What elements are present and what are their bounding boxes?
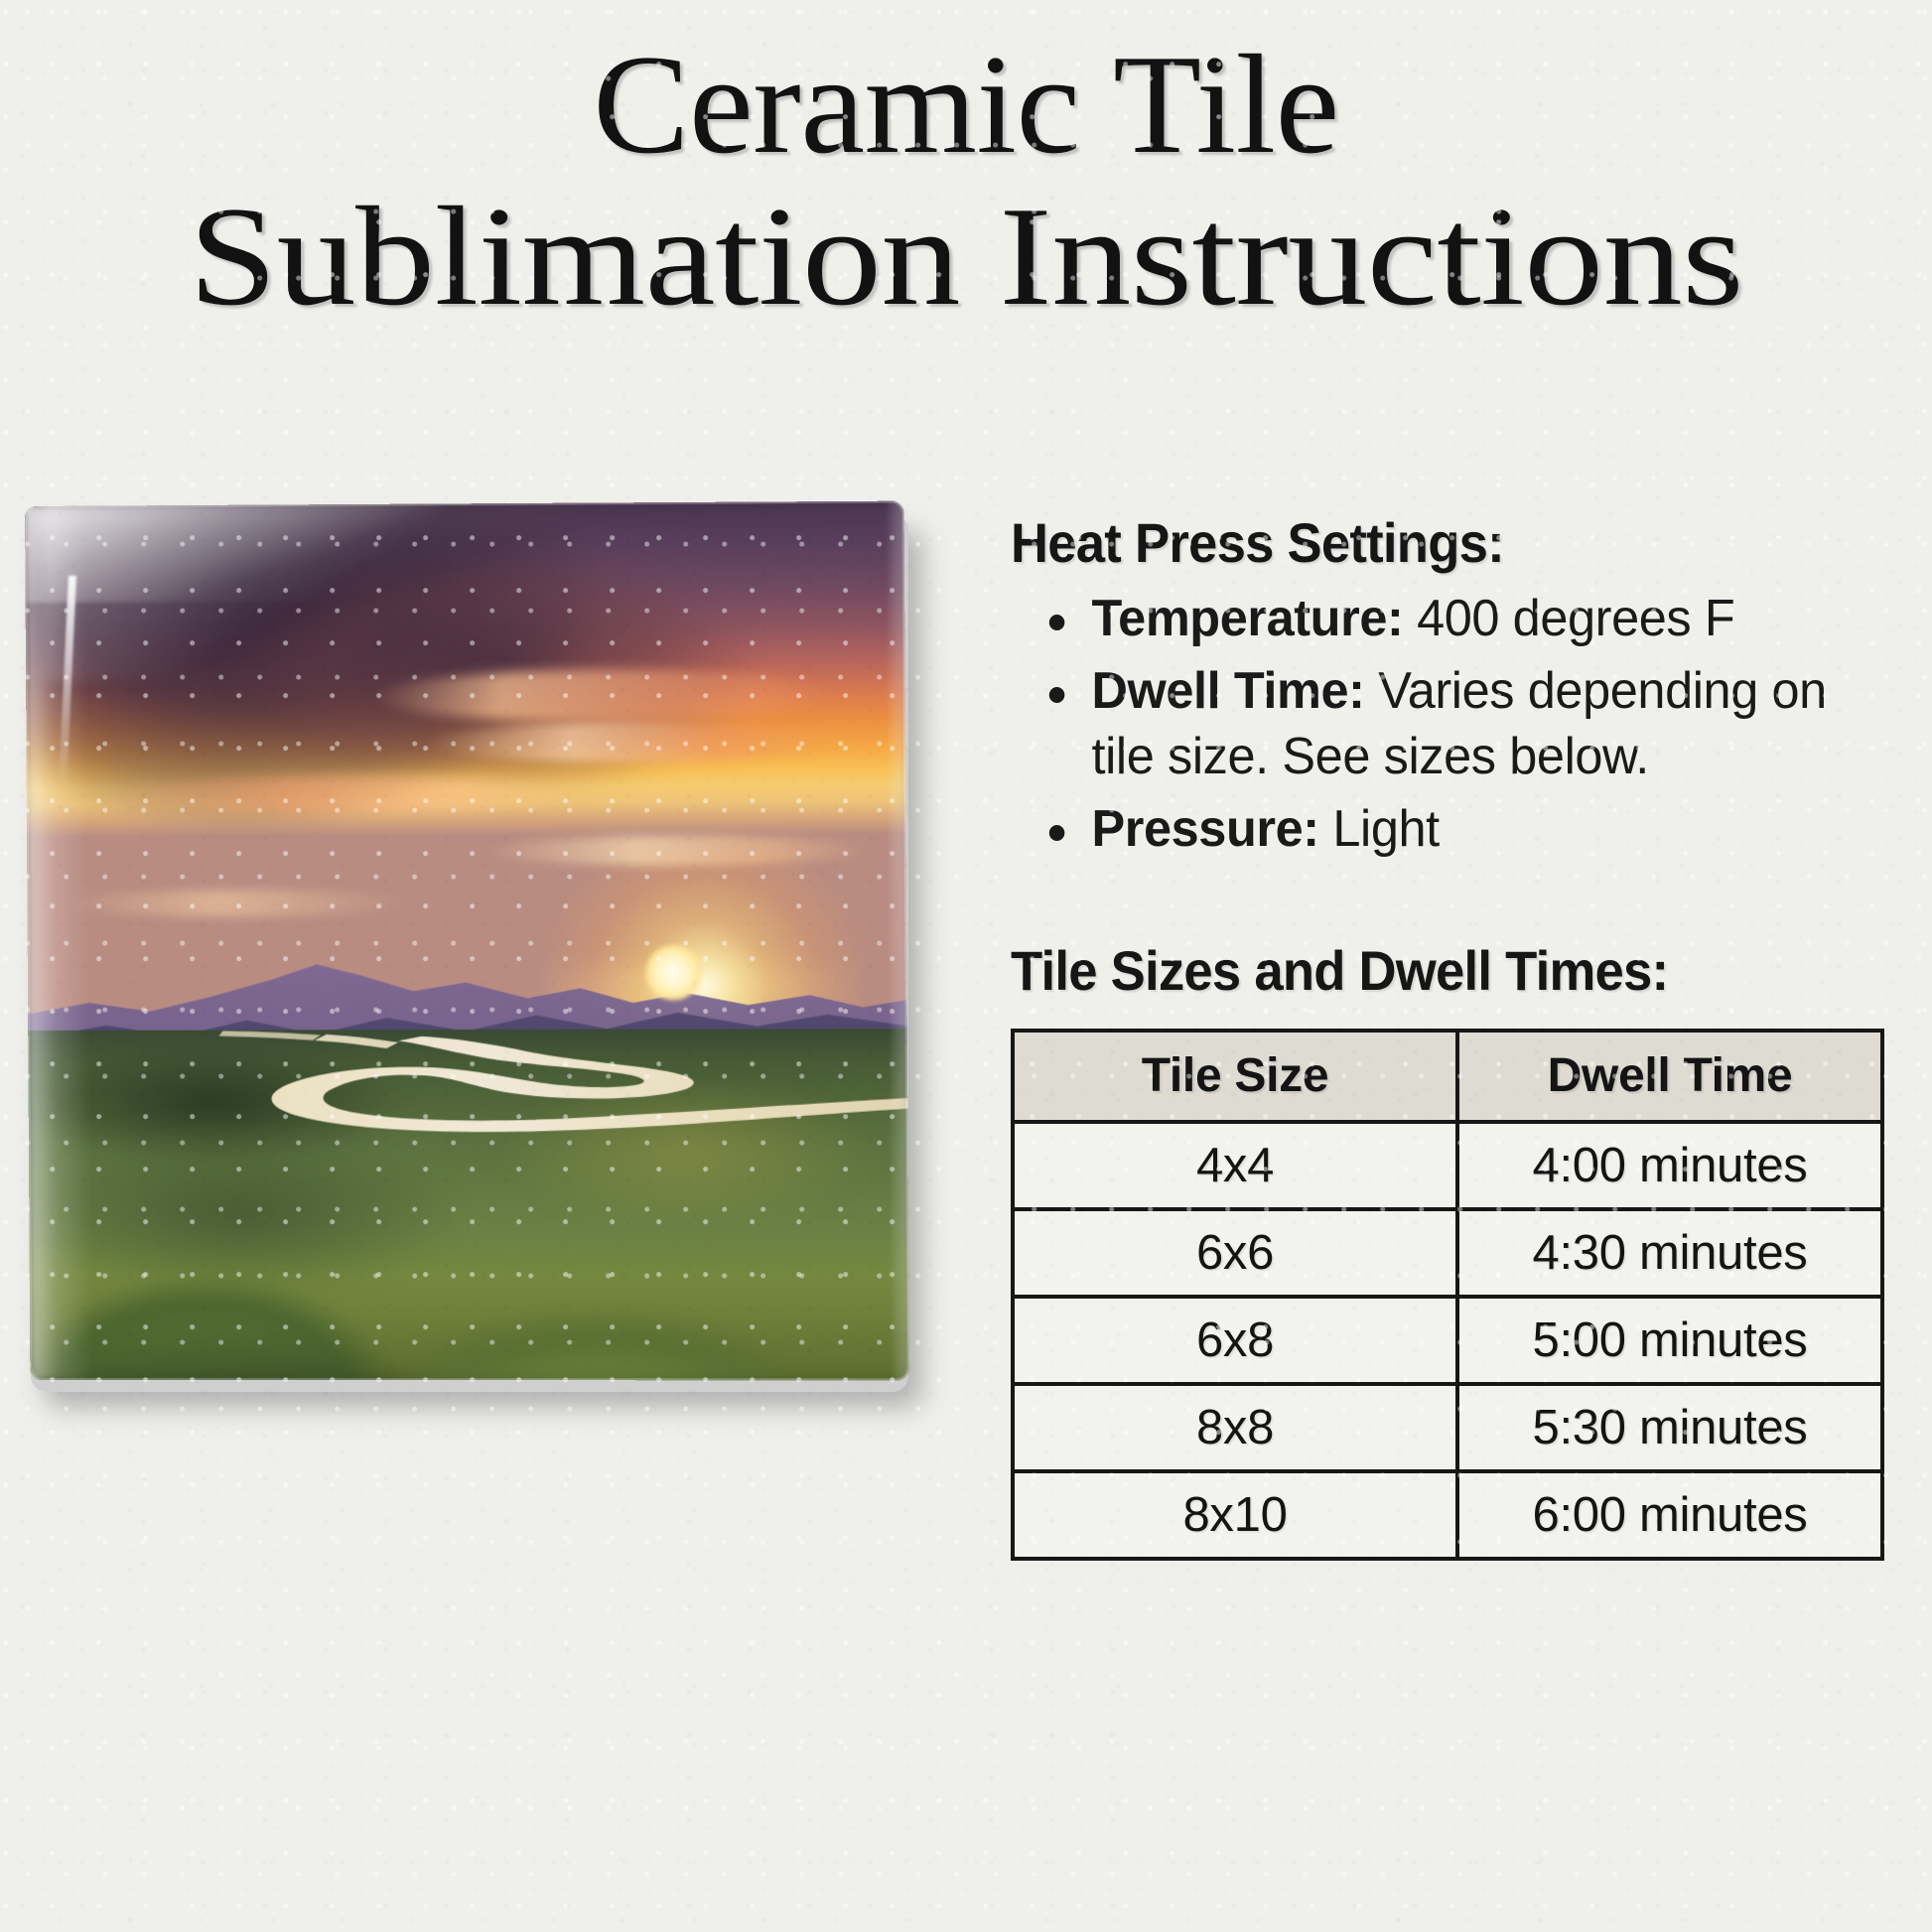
tile-bevel-edge bbox=[25, 501, 909, 1381]
table-header-row: Tile Size Dwell Time bbox=[1013, 1031, 1882, 1122]
instructions-column: Heat Press Settings: Temperature: 400 de… bbox=[1011, 514, 1912, 1561]
column-header-dwell-time: Dwell Time bbox=[1457, 1031, 1882, 1122]
table-row: 4x4 4:00 minutes bbox=[1013, 1122, 1882, 1209]
cell-tile-size: 8x10 bbox=[1013, 1471, 1457, 1559]
list-item: Temperature: 400 degrees F bbox=[1011, 587, 1885, 652]
cell-tile-size: 8x8 bbox=[1013, 1384, 1457, 1471]
title-line-primary: Ceramic Tile bbox=[0, 34, 1932, 176]
tile-sizes-heading-wrapper: Tile Sizes and Dwell Times: bbox=[1011, 942, 1912, 1001]
setting-label: Pressure: bbox=[1091, 800, 1318, 858]
table-row: 6x8 5:00 minutes bbox=[1013, 1297, 1882, 1384]
cell-dwell-time: 5:00 minutes bbox=[1457, 1297, 1882, 1384]
setting-label: Dwell Time: bbox=[1091, 662, 1364, 720]
table-row: 8x8 5:30 minutes bbox=[1013, 1384, 1882, 1471]
cell-tile-size: 4x4 bbox=[1013, 1122, 1457, 1209]
page-title: Ceramic Tile Sublimation Instructions bbox=[0, 34, 1932, 328]
table-row: 6x6 4:30 minutes bbox=[1013, 1209, 1882, 1297]
table-row: 8x10 6:00 minutes bbox=[1013, 1471, 1882, 1559]
heat-press-settings-list: Temperature: 400 degrees F Dwell Time: V… bbox=[1011, 587, 1912, 863]
list-item: Dwell Time: Varies depending on tile siz… bbox=[1011, 659, 1885, 789]
cell-dwell-time: 4:00 minutes bbox=[1457, 1122, 1882, 1209]
table-header: Tile Size Dwell Time bbox=[1013, 1031, 1882, 1122]
list-item: Pressure: Light bbox=[1011, 797, 1885, 863]
ceramic-tile-product-image bbox=[25, 506, 908, 1392]
tile-sizes-heading: Tile Sizes and Dwell Times: bbox=[1011, 942, 1859, 1001]
column-header-tile-size: Tile Size bbox=[1013, 1031, 1457, 1122]
tile-photo-surface bbox=[25, 501, 909, 1381]
cell-tile-size: 6x8 bbox=[1013, 1297, 1457, 1384]
setting-value: 400 degrees F bbox=[1417, 590, 1734, 647]
cell-dwell-time: 4:30 minutes bbox=[1457, 1209, 1882, 1297]
heat-press-settings-heading: Heat Press Settings: bbox=[1011, 514, 1859, 573]
tile-sizes-dwell-times-table: Tile Size Dwell Time 4x4 4:00 minutes 6x… bbox=[1011, 1029, 1884, 1561]
setting-value: Light bbox=[1332, 800, 1439, 858]
cell-tile-size: 6x6 bbox=[1013, 1209, 1457, 1297]
table-body: 4x4 4:00 minutes 6x6 4:30 minutes 6x8 5:… bbox=[1013, 1122, 1882, 1559]
cell-dwell-time: 5:30 minutes bbox=[1457, 1384, 1882, 1471]
cell-dwell-time: 6:00 minutes bbox=[1457, 1471, 1882, 1559]
title-line-secondary: Sublimation Instructions bbox=[0, 186, 1932, 328]
setting-label: Temperature: bbox=[1091, 590, 1403, 647]
